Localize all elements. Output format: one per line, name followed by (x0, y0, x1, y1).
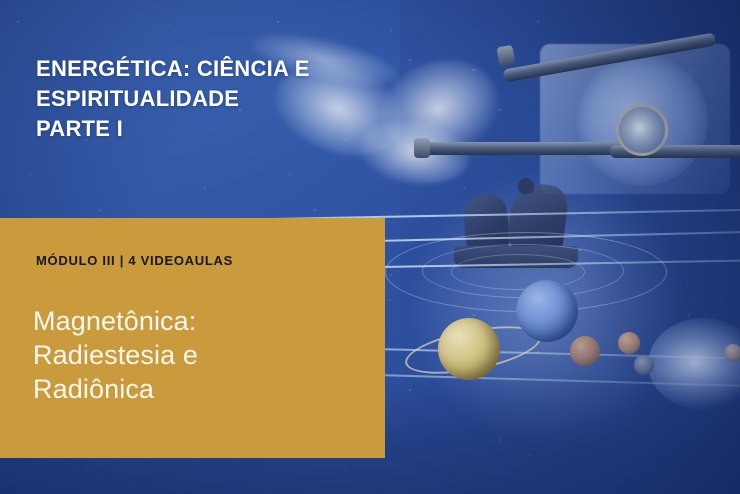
module-heading: Magnetônica: Radiestesia e Radiônica (33, 304, 363, 406)
module-kicker: MÓDULO III | 4 VIDEOAULAS (36, 253, 233, 268)
gold-panel: MÓDULO III | 4 VIDEOAULAS Magnetônica: R… (0, 218, 385, 458)
course-banner: ENERGÉTICA: CIÊNCIA E ESPIRITUALIDADE PA… (0, 0, 740, 494)
banner-title: ENERGÉTICA: CIÊNCIA E ESPIRITUALIDADE PA… (36, 54, 376, 144)
